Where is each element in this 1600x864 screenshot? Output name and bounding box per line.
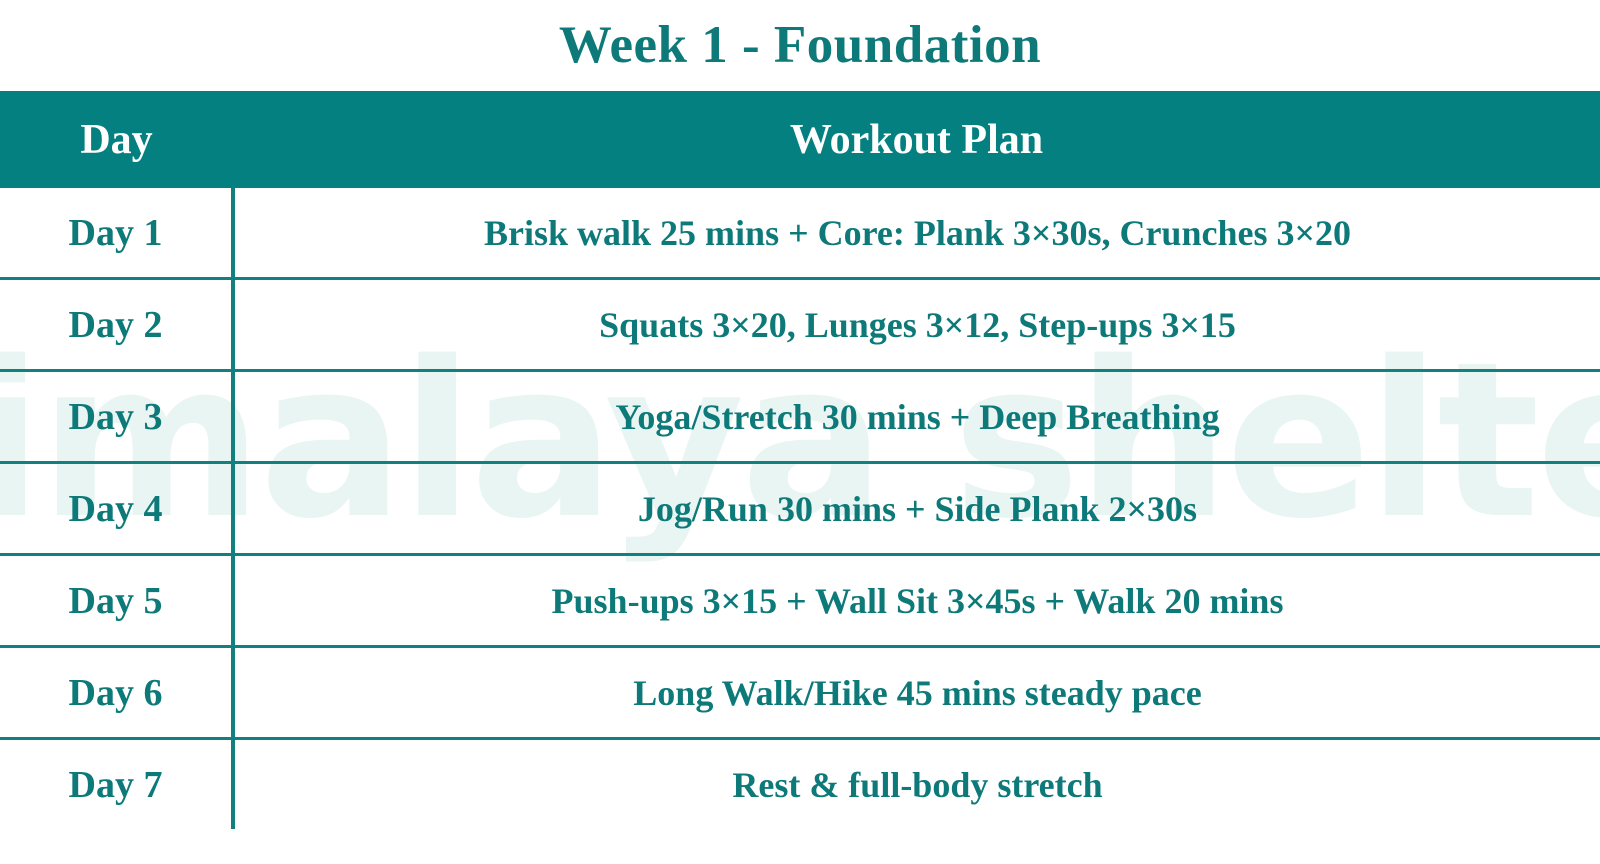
page-title: Week 1 - Foundation	[0, 0, 1600, 91]
table-row: Day 7Rest & full-body stretch	[0, 739, 1600, 830]
cell-day: Day 5	[0, 555, 233, 647]
column-header-workout-plan: Workout Plan	[233, 91, 1600, 188]
table-row: Day 6Long Walk/Hike 45 mins steady pace	[0, 647, 1600, 739]
column-header-day: Day	[0, 91, 233, 188]
cell-day: Day 1	[0, 188, 233, 279]
table-row: Day 4Jog/Run 30 mins + Side Plank 2×30s	[0, 463, 1600, 555]
cell-workout-plan: Push-ups 3×15 + Wall Sit 3×45s + Walk 20…	[233, 555, 1600, 647]
cell-workout-plan: Squats 3×20, Lunges 3×12, Step-ups 3×15	[233, 279, 1600, 371]
cell-workout-plan: Jog/Run 30 mins + Side Plank 2×30s	[233, 463, 1600, 555]
cell-workout-plan: Yoga/Stretch 30 mins + Deep Breathing	[233, 371, 1600, 463]
cell-workout-plan: Long Walk/Hike 45 mins steady pace	[233, 647, 1600, 739]
workout-plan-table: Day Workout Plan Day 1Brisk walk 25 mins…	[0, 91, 1600, 829]
table-row: Day 5Push-ups 3×15 + Wall Sit 3×45s + Wa…	[0, 555, 1600, 647]
cell-day: Day 7	[0, 739, 233, 830]
page-title-text: Week 1 - Foundation	[559, 19, 1041, 72]
cell-day: Day 2	[0, 279, 233, 371]
cell-workout-plan: Rest & full-body stretch	[233, 739, 1600, 830]
cell-day: Day 6	[0, 647, 233, 739]
cell-workout-plan: Brisk walk 25 mins + Core: Plank 3×30s, …	[233, 188, 1600, 279]
table-body: Day 1Brisk walk 25 mins + Core: Plank 3×…	[0, 188, 1600, 829]
table-header-row: Day Workout Plan	[0, 91, 1600, 188]
cell-day: Day 3	[0, 371, 233, 463]
table-row: Day 3Yoga/Stretch 30 mins + Deep Breathi…	[0, 371, 1600, 463]
table-row: Day 1Brisk walk 25 mins + Core: Plank 3×…	[0, 188, 1600, 279]
workout-plan-page: himalaya shelter Week 1 - Foundation Day…	[0, 0, 1600, 864]
table-row: Day 2Squats 3×20, Lunges 3×12, Step-ups …	[0, 279, 1600, 371]
table-header: Day Workout Plan	[0, 91, 1600, 188]
cell-day: Day 4	[0, 463, 233, 555]
